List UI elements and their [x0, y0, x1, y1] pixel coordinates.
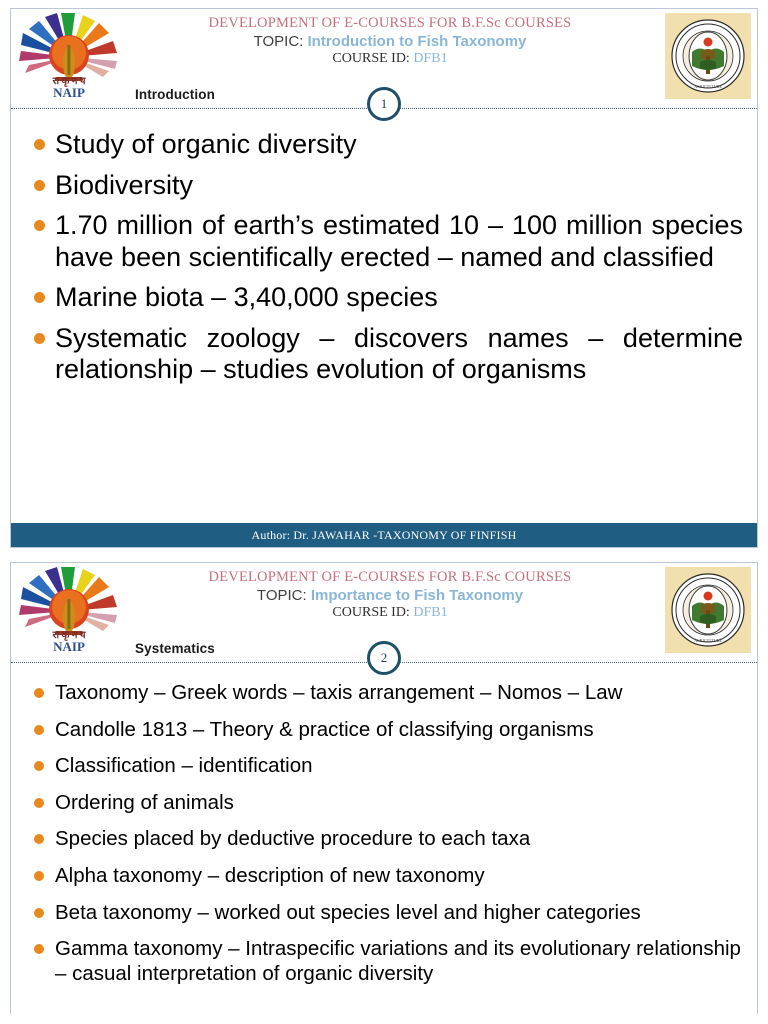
slide-number-badge: 1 — [367, 87, 401, 121]
course-id-value: DFB1 — [413, 605, 447, 620]
icar-seal-logo: AGRICULTURE — [665, 13, 751, 99]
course-program-title: DEVELOPMENT OF E-COURSES FOR B.F.Sc COUR… — [127, 569, 653, 586]
list-item: Alpha taxonomy – description of new taxo… — [25, 864, 743, 889]
course-id-label: COURSE ID: — [332, 605, 409, 620]
list-item: Beta taxonomy – worked out species level… — [25, 901, 743, 926]
list-item: Classification – identification — [25, 754, 743, 779]
list-item: Systematic zoology – discovers names – d… — [25, 323, 743, 386]
slide-2: रा कृ न प NAIP DEVELOPMENT OF E-COURSES … — [10, 562, 758, 1014]
slide-number-badge: 2 — [367, 641, 401, 675]
list-item: Gamma taxonomy – Intraspecific variation… — [25, 937, 743, 986]
topic-label: TOPIC: — [257, 587, 307, 604]
list-item: Species placed by deductive procedure to… — [25, 827, 743, 852]
course-id-line: COURSE ID: DFB1 — [127, 51, 653, 67]
footer-author-text: Author: Dr. JAWAHAR -TAXONOMY OF FINFISH — [252, 528, 517, 543]
list-item: Ordering of animals — [25, 791, 743, 816]
slide-1: रा कृ न प NAIP DEVELOPMENT OF E-COURSES … — [10, 8, 758, 548]
list-item: Marine biota – 3,40,000 species — [25, 282, 743, 314]
slide-1-bullet-list: Study of organic diversity Biodiversity … — [25, 129, 743, 386]
slide-1-title-block: DEVELOPMENT OF E-COURSES FOR B.F.Sc COUR… — [127, 15, 653, 67]
topic-value: Importance to Fish Taxonomy — [311, 587, 523, 604]
list-item: Candolle 1813 – Theory & practice of cla… — [25, 718, 743, 743]
list-item: Taxonomy – Greek words – taxis arrangeme… — [25, 681, 743, 706]
institution-seal-icon: AGRICULTURE — [670, 572, 746, 648]
svg-text:AGRICULTURE: AGRICULTURE — [694, 84, 722, 89]
naip-logo: रा कृ न प NAIP — [17, 11, 121, 107]
topic-label: TOPIC: — [254, 33, 304, 50]
topic-line: TOPIC: Importance to Fish Taxonomy — [127, 587, 653, 604]
slide-1-divider: 1 — [11, 97, 757, 119]
list-item: Biodiversity — [25, 170, 743, 202]
course-id-label: COURSE ID: — [332, 51, 409, 66]
topic-value: Introduction to Fish Taxonomy — [308, 33, 527, 50]
slide-2-title-block: DEVELOPMENT OF E-COURSES FOR B.F.Sc COUR… — [127, 569, 653, 621]
icar-seal-logo: AGRICULTURE — [665, 567, 751, 653]
naip-logo: रा कृ न प NAIP — [17, 565, 121, 661]
course-id-line: COURSE ID: DFB1 — [127, 605, 653, 621]
slide-2-body: Taxonomy – Greek words – taxis arrangeme… — [11, 673, 757, 1014]
topic-line: TOPIC: Introduction to Fish Taxonomy — [127, 33, 653, 50]
slide-1-body: Study of organic diversity Biodiversity … — [11, 119, 757, 523]
document-page: रा कृ न प NAIP DEVELOPMENT OF E-COURSES … — [0, 0, 768, 1024]
slide-2-bullet-list: Taxonomy – Greek words – taxis arrangeme… — [25, 681, 743, 986]
slide-1-footer: Author: Dr. JAWAHAR -TAXONOMY OF FINFISH — [11, 523, 757, 547]
svg-text:AGRICULTURE: AGRICULTURE — [694, 638, 722, 643]
list-item: Study of organic diversity — [25, 129, 743, 161]
institution-seal-icon: AGRICULTURE — [670, 18, 746, 94]
course-id-value: DFB1 — [413, 51, 447, 66]
slide-2-divider: 2 — [11, 651, 757, 673]
list-item: 1.70 million of earth’s estimated 10 – 1… — [25, 210, 743, 273]
course-program-title: DEVELOPMENT OF E-COURSES FOR B.F.Sc COUR… — [127, 15, 653, 32]
